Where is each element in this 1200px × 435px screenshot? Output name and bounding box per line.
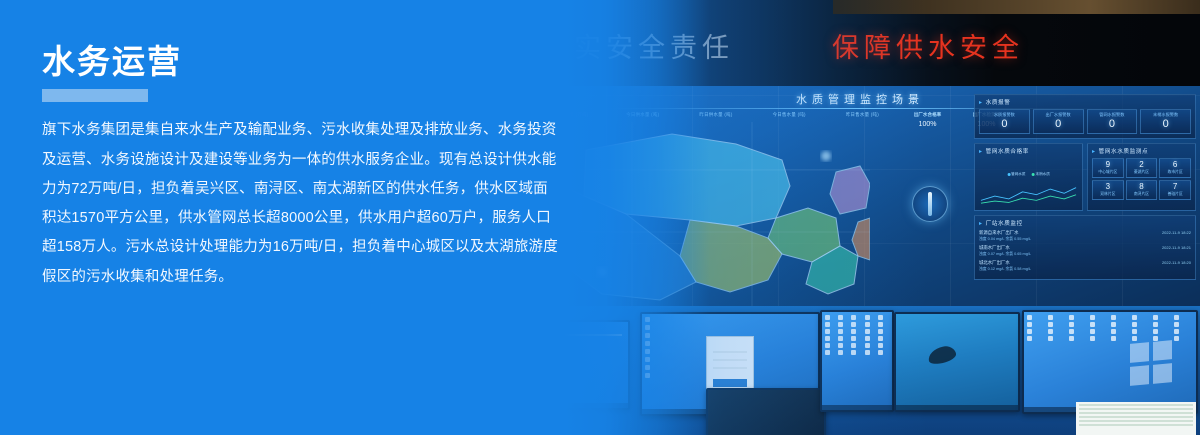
desktop-icon-grid — [1027, 315, 1193, 341]
monitor-site: 6 练市片区 — [1159, 158, 1191, 178]
alarm-card-value: 0 — [1088, 118, 1137, 130]
panel-header: ▸ 水质报警 — [979, 98, 1191, 106]
panel-title: 管网水水质监测点 — [1099, 147, 1149, 155]
panel-title: 水质报警 — [986, 98, 1011, 106]
chevron-right-icon: ▸ — [979, 220, 983, 227]
panel-header: ▸ 管网水质合格率 — [979, 147, 1078, 155]
chevron-right-icon: ▸ — [979, 148, 983, 155]
chevron-right-icon: ▸ — [979, 99, 983, 106]
site-label: 善琏片区 — [1160, 192, 1190, 197]
site-label: 中心城片区 — [1093, 170, 1123, 175]
workstation-monitor-video — [894, 312, 1020, 412]
body-paragraph: 旗下水务集团是集自来水生产及输配业务、污水收集处理及排放业务、水务投资及运营、水… — [42, 116, 562, 292]
legend-label: 末梢水质 — [1036, 172, 1050, 176]
site-label: 南浔片区 — [1127, 192, 1157, 197]
alarm-card-value: 0 — [1141, 118, 1190, 130]
rate-kpi-label: 出厂水合格率 — [902, 112, 953, 118]
alarm-card-label: 出厂水报警数 — [1034, 112, 1083, 118]
water-operations-banner: 落实安全责任 保障供水安全 水质管理监控场景 年供水总量 (万吨) 今日供水量 … — [0, 0, 1200, 435]
log-metrics: 浊度 0.04 mg/L 余氯 0.55 mg/L — [979, 237, 1031, 242]
site-value: 7 — [1160, 183, 1190, 192]
diver-graphic — [926, 344, 957, 365]
site-value: 3 — [1093, 183, 1123, 192]
site-label: 练市片区 — [1160, 170, 1190, 175]
log-metrics: 浊度 0.07 mg/L 余氯 0.65 mg/L — [979, 252, 1031, 257]
site-value: 8 — [1127, 183, 1157, 192]
monitor-site: 8 南浔片区 — [1126, 180, 1158, 200]
log-time: 2022-11-9 18:20 — [1158, 260, 1191, 265]
alarm-card: 末梢水报警数 0 — [1140, 109, 1191, 134]
taskbar — [896, 405, 1018, 410]
login-dialog[interactable] — [706, 336, 754, 394]
monitor-site-grid: 9 中心城片区 2 菱湖片区 6 练市片区 — [1092, 158, 1191, 200]
monitor-site: 3 双林片区 — [1092, 180, 1124, 200]
rate-chart: 管网水质 末梢水质 — [979, 158, 1078, 206]
panel-water-quality-alarm: ▸ 水质报警 水质报警数 0 出厂水报警数 0 管网水报警数 — [974, 94, 1196, 139]
log-name: 城南水厂出厂水 — [979, 245, 1031, 251]
panel-header: ▸ 厂站水质监控 — [979, 219, 1191, 227]
log-name: 新源自来水厂出厂水 — [979, 230, 1031, 236]
site-label: 双林片区 — [1093, 192, 1123, 197]
taskbar — [822, 405, 892, 410]
compass-icon — [912, 186, 948, 222]
log-item: 城南水厂出厂水 浊度 0.07 mg/L 余氯 0.65 mg/L 2022-1… — [979, 245, 1191, 257]
log-metrics: 浊度 0.12 mg/L 余氯 0.58 mg/L — [979, 267, 1031, 272]
legend-item: 管网水质 — [1007, 172, 1025, 177]
map-hotspot — [821, 151, 831, 161]
workstation-monitor — [820, 310, 894, 412]
site-label: 菱湖片区 — [1127, 170, 1157, 175]
rate-kpi-value: 100% — [902, 121, 953, 128]
alarm-card-grid: 水质报警数 0 出厂水报警数 0 管网水报警数 0 末梢水报警数 — [979, 109, 1191, 134]
title-underline — [42, 89, 148, 102]
legend-item: 末梢水质 — [1032, 172, 1050, 177]
monitor-site: 9 中心城片区 — [1092, 158, 1124, 178]
workstation-monitor-dark — [706, 388, 826, 435]
site-value: 2 — [1127, 161, 1157, 170]
desktop-icon-grid — [825, 315, 889, 355]
log-name: 城北水厂出厂水 — [979, 260, 1031, 266]
rate-kpi-item: 出厂水合格率 100% — [902, 112, 953, 128]
alarm-card-value: 0 — [980, 118, 1029, 130]
site-value: 9 — [1093, 161, 1123, 170]
slogan-right: 保障供水安全 — [832, 26, 1024, 65]
panel-title: 厂站水质监控 — [986, 219, 1023, 227]
page-title: 水务运营 — [42, 44, 562, 80]
panel-plant-quality-log: ▸ 厂站水质监控 新源自来水厂出厂水 浊度 0.04 mg/L 余氯 0.55 … — [974, 215, 1196, 280]
panel-header: ▸ 管网水水质监测点 — [1092, 147, 1191, 155]
alarm-card: 水质报警数 0 — [979, 109, 1030, 134]
legend-label: 管网水质 — [1011, 172, 1025, 176]
alarm-card: 管网水报警数 0 — [1087, 109, 1138, 134]
copy-block: 水务运营 旗下水务集团是集自来水生产及输配业务、污水收集处理及排放业务、水务投资… — [42, 44, 562, 292]
log-item: 新源自来水厂出厂水 浊度 0.04 mg/L 余氯 0.55 mg/L 2022… — [979, 230, 1191, 242]
panel-title: 管网水质合格率 — [986, 147, 1029, 155]
dashboard-right-panels: ▸ 水质报警 水质报警数 0 出厂水报警数 0 管网水报警数 — [974, 94, 1196, 284]
log-list: 新源自来水厂出厂水 浊度 0.04 mg/L 余氯 0.55 mg/L 2022… — [979, 230, 1191, 275]
dialog-confirm-button[interactable] — [713, 379, 747, 387]
windows-logo-icon — [1130, 340, 1172, 386]
panel-pair: ▸ 管网水质合格率 管网水质 末梢水质 — [974, 143, 1196, 215]
log-time: 2022-11-9 18:21 — [1158, 245, 1191, 250]
alarm-card-label: 水质报警数 — [980, 112, 1029, 118]
alarm-card-label: 管网水报警数 — [1088, 112, 1137, 118]
log-item: 城北水厂出厂水 浊度 0.12 mg/L 余氯 0.58 mg/L 2022-1… — [979, 260, 1191, 272]
panel-monitor-sites: ▸ 管网水水质监测点 9 中心城片区 2 菱湖片区 — [1087, 143, 1196, 211]
rate-chart-svg — [979, 182, 1078, 206]
alarm-card-value: 0 — [1034, 118, 1083, 130]
alarm-card-label: 末梢水报警数 — [1141, 112, 1190, 118]
map-region-anji — [830, 166, 870, 214]
monitor-site: 2 菱湖片区 — [1126, 158, 1158, 178]
monitor-site: 7 善琏片区 — [1159, 180, 1191, 200]
spreadsheet-screen — [1076, 402, 1196, 435]
kpi-label: 今日售水量 (吨) — [756, 112, 823, 118]
chevron-right-icon: ▸ — [1092, 148, 1096, 155]
site-value: 6 — [1160, 161, 1190, 170]
ceiling-strip — [833, 0, 1200, 14]
alarm-card: 出厂水报警数 0 — [1033, 109, 1084, 134]
panel-pipe-quality-rate: ▸ 管网水质合格率 管网水质 末梢水质 — [974, 143, 1083, 211]
log-time: 2022-11-9 18:22 — [1158, 230, 1191, 235]
workstation-monitor — [1022, 310, 1198, 414]
kpi-label: 昨日售水量 (吨) — [829, 112, 896, 118]
control-room-photo: 落实安全责任 保障供水安全 水质管理监控场景 年供水总量 (万吨) 今日供水量 … — [520, 0, 1200, 435]
rate-chart-legend: 管网水质 末梢水质 — [1007, 172, 1050, 177]
